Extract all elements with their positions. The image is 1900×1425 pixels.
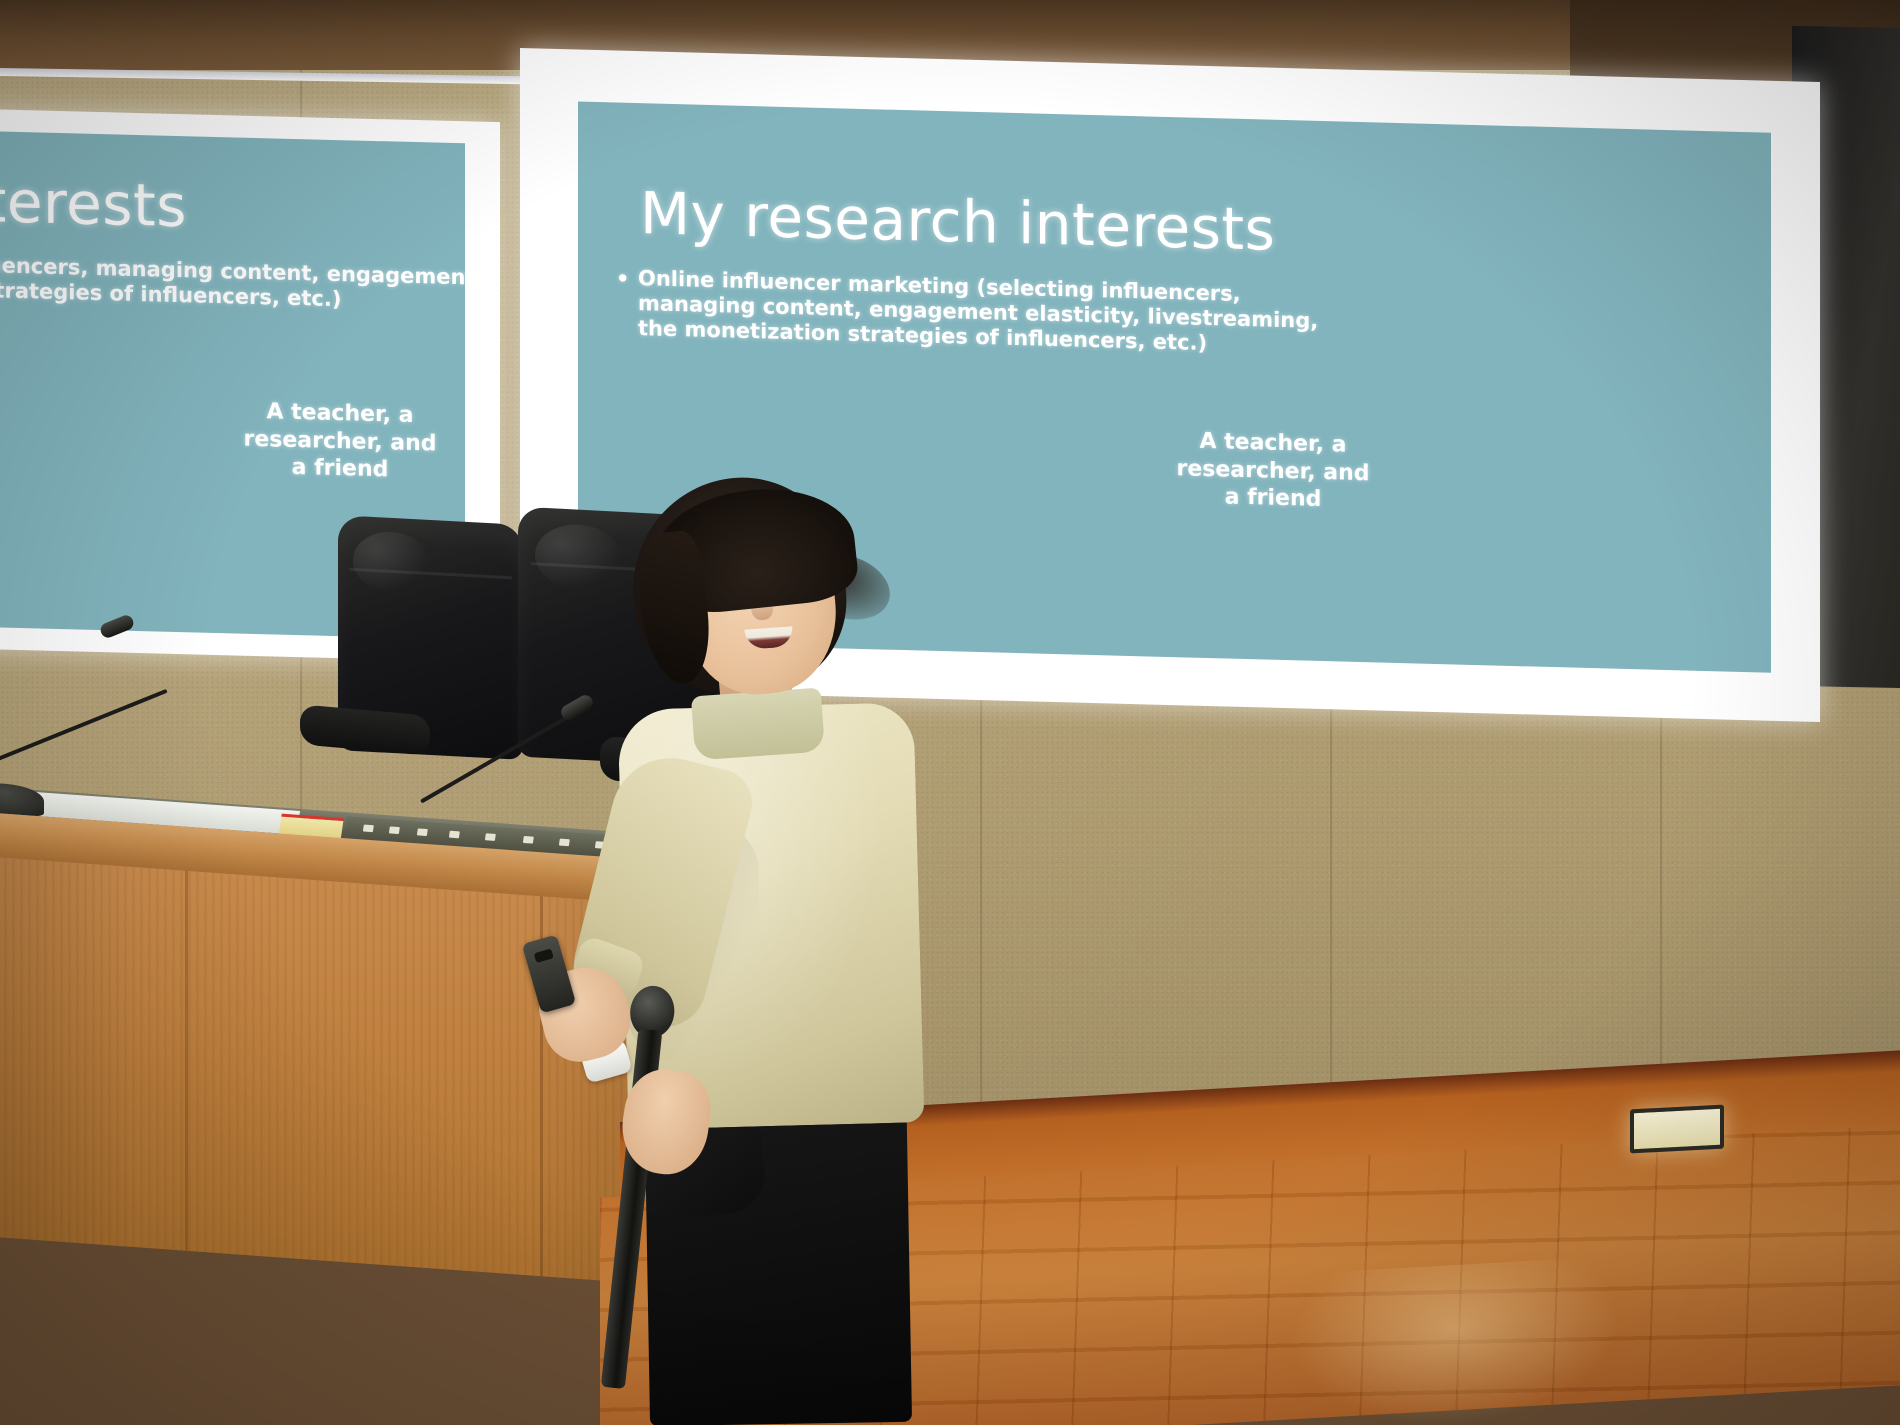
slide-bullet-main: Online influencer marketing (selecting i… bbox=[638, 266, 1360, 359]
presenter bbox=[505, 470, 925, 1425]
clicker-button bbox=[534, 948, 554, 963]
recessed-wall-light bbox=[1630, 1105, 1724, 1154]
slide-caption-main: A teacher, a researcher, and a friend bbox=[1173, 427, 1373, 515]
slide-title-secondary: arch interests bbox=[0, 162, 187, 240]
slide-title-main: My research interests bbox=[640, 179, 1275, 264]
floor-reflection bbox=[1290, 1256, 1620, 1425]
photo-scene: arch interests keting (selecting influen… bbox=[0, 0, 1900, 1425]
slide-bullet-secondary: keting (selecting influencers, managing … bbox=[0, 247, 465, 316]
slide-caption-secondary: A teacher, a researcher, and a friend bbox=[240, 398, 440, 486]
presenter-collar bbox=[691, 688, 825, 761]
